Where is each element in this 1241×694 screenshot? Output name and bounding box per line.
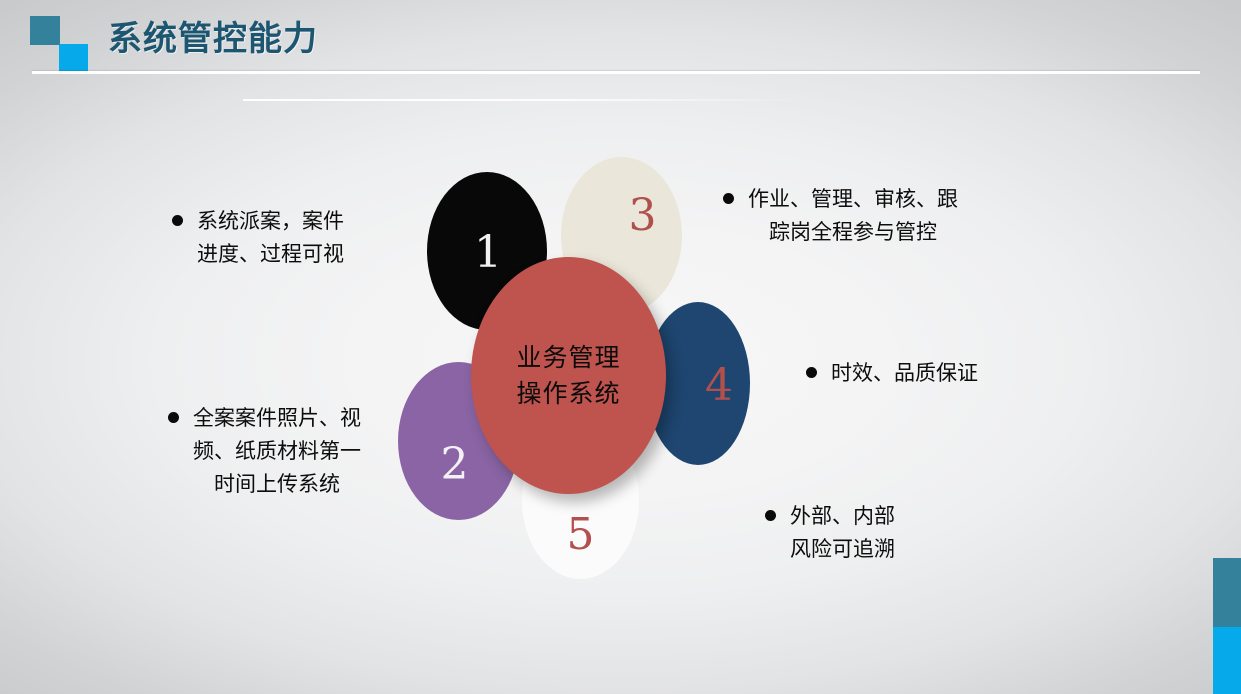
callout-2: 全案案件照片、视 频、纸质材料第一 时间上传系统 (168, 402, 416, 501)
callout-5-text: 外部、内部 风险可追溯 (790, 500, 895, 566)
ellipse-cluster: 1 3 2 4 5 业务管理 操作系统 (0, 0, 1241, 694)
callout-4: 时效、品质保证 (806, 357, 1041, 390)
center-ellipse-line1: 业务管理 (516, 340, 620, 376)
bullet-dot-icon (765, 510, 776, 521)
callout-3-text: 作业、管理、审核、跟 踪岗全程参与管控 (748, 183, 958, 249)
callout-1: 系统派案，案件 进度、过程可视 (172, 205, 412, 271)
bullet-dot-icon (168, 412, 179, 423)
ellipse-4-number: 4 (705, 364, 733, 408)
callout-2-text: 全案案件照片、视 频、纸质材料第一 时间上传系统 (193, 402, 361, 501)
bullet-dot-icon (723, 193, 734, 204)
slide-canvas: 系统管控能力 1 3 2 4 5 业务管理 操作系统 系统派案，案件 (0, 0, 1241, 694)
callout-3: 作业、管理、审核、跟 踪岗全程参与管控 (723, 183, 1043, 249)
bullet-dot-icon (806, 367, 817, 378)
callout-1-text: 系统派案，案件 进度、过程可视 (197, 205, 344, 271)
center-ellipse-line2: 操作系统 (516, 376, 620, 412)
callout-4-text: 时效、品质保证 (831, 357, 978, 390)
center-ellipse[interactable]: 业务管理 操作系统 (471, 257, 666, 494)
ellipse-2-number: 2 (441, 443, 469, 487)
ellipse-5-number: 5 (567, 513, 595, 557)
ellipse-3-number: 3 (629, 194, 657, 238)
ellipse-1-number: 1 (474, 231, 502, 275)
callout-5: 外部、内部 风险可追溯 (765, 500, 980, 566)
bullet-dot-icon (172, 215, 183, 226)
